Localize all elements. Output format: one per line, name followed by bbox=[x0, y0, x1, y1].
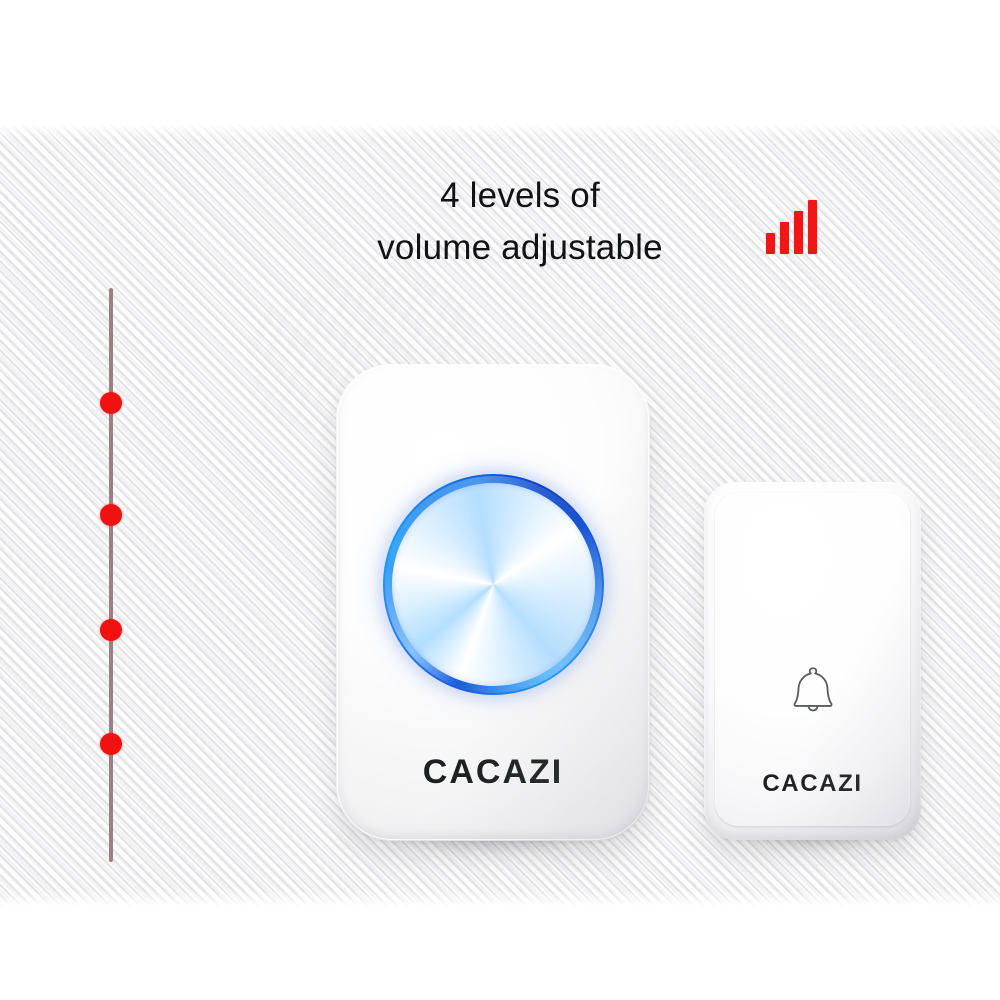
headline-line-1: 4 levels of bbox=[300, 170, 740, 222]
level-scale-dot-1 bbox=[100, 392, 122, 414]
bell-icon bbox=[782, 661, 844, 723]
volume-bar-4 bbox=[808, 200, 817, 254]
led-ring-inner-shade bbox=[392, 483, 595, 686]
volume-bar-2 bbox=[780, 222, 789, 254]
headline-line-2: volume adjustable bbox=[300, 222, 740, 274]
volume-bar-1 bbox=[766, 233, 775, 254]
level-scale-dot-4 bbox=[100, 733, 122, 755]
doorbell-push-button: CACAZI bbox=[704, 482, 921, 840]
level-scale-dot-2 bbox=[100, 504, 122, 526]
receiver-brand-wordmark: CACAZI bbox=[336, 753, 650, 792]
level-scale-line bbox=[109, 288, 113, 862]
level-scale-dot-3 bbox=[100, 619, 122, 641]
led-indicator-ring bbox=[383, 474, 604, 695]
product-image-stage: 4 levels of volume adjustable CACAZI bbox=[0, 0, 1000, 1000]
push-button-face[interactable]: CACAZI bbox=[715, 493, 910, 826]
doorbell-receiver-chime: CACAZI bbox=[336, 364, 650, 841]
headline: 4 levels of volume adjustable bbox=[300, 170, 740, 274]
volume-level-scale bbox=[96, 288, 126, 862]
volume-level-bars-icon bbox=[766, 200, 822, 254]
volume-bar-3 bbox=[794, 211, 803, 254]
transmitter-brand-wordmark: CACAZI bbox=[715, 770, 910, 798]
